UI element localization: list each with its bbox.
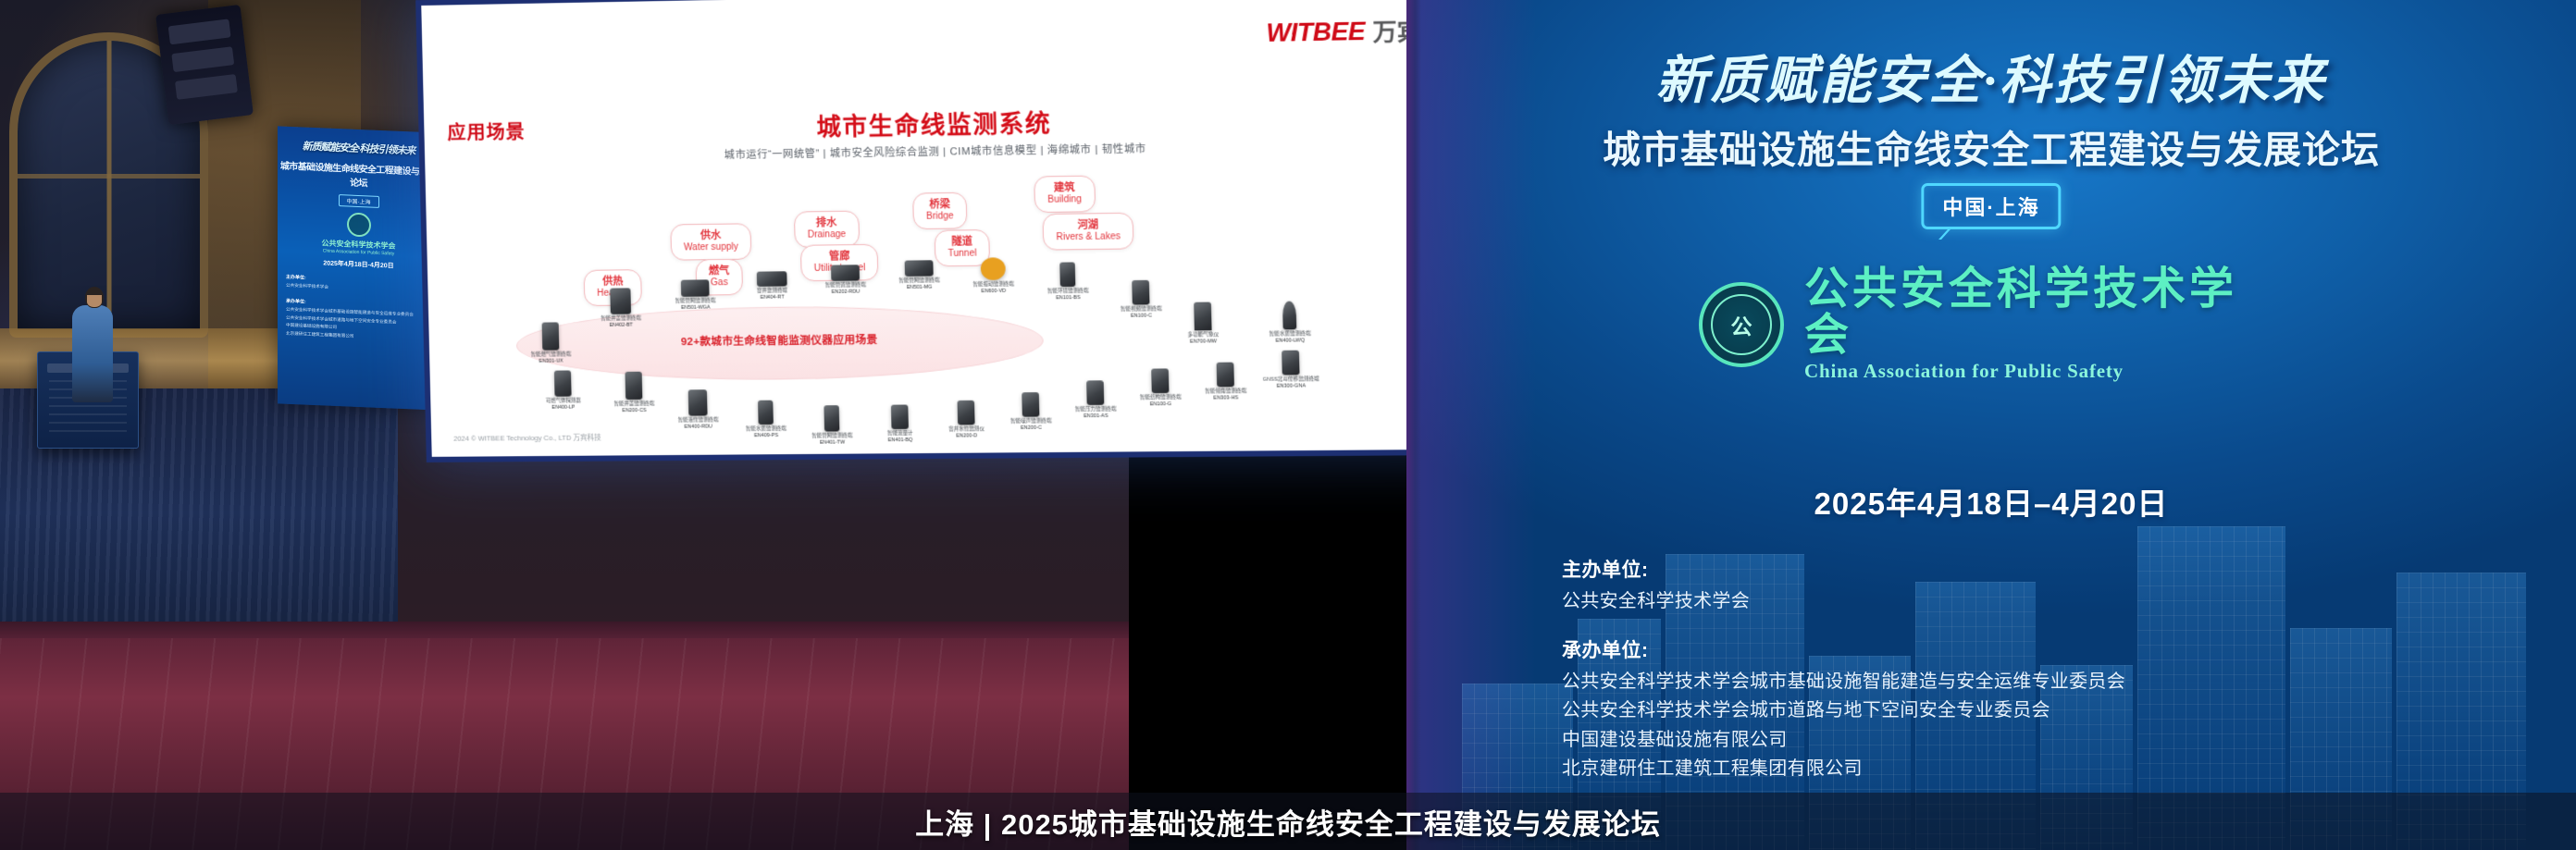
device-code: EN402-BT xyxy=(585,323,658,329)
pill-en: Bridge xyxy=(926,211,954,223)
scenario-pill-rivers-lakes: 河湖 Rivers & Lakes xyxy=(1042,213,1133,251)
pill-en: Rivers & Lakes xyxy=(1056,231,1121,243)
device-item: 智能水质监测终端 EN409-PS xyxy=(729,400,803,438)
association-row: 公 公共安全科学技术学会 China Association for Publi… xyxy=(1699,266,2284,383)
device-item: 多功能气象仪 EN700-MW xyxy=(1165,302,1241,345)
pill-cn: 桥梁 xyxy=(926,199,954,211)
organizer-spacer xyxy=(1562,617,2506,635)
device-item: 智能噪声监测终端 EN200-C xyxy=(993,392,1068,432)
organizer-label: 主办单位: xyxy=(1562,555,2506,583)
device-code: EN301-AS xyxy=(1059,413,1133,420)
device-item: 智能管道监测终端 EN202-RDU xyxy=(809,265,883,296)
stage-left-banner: 新质赋能安全·科技引领未来 城市基础设施生命线安全工程建设与发展论坛 中国·上海… xyxy=(278,126,440,410)
device-item: GNSS北斗位移监测终端 EN300-GNA xyxy=(1253,350,1329,389)
scenario-pill-bridge: 桥梁 Bridge xyxy=(912,192,967,229)
pill-cn: 建筑 xyxy=(1047,182,1082,194)
device-item: 智能流量计 EN401-BQ xyxy=(862,404,937,443)
device-item: 智能水质监测终端 EN400-LWQ xyxy=(1252,301,1329,344)
co-organizer-3: 北京建研住工建筑工程集团有限公司 xyxy=(1562,755,2506,784)
conference-backdrop: 新质赋能安全·科技引领未来 城市基础设施生命线安全工程建设与发展论坛 中国·上海… xyxy=(1406,0,2576,850)
device-code: EN301-UX xyxy=(514,359,588,365)
pill-en: Water supply xyxy=(684,241,738,253)
association-seal-icon: 公 xyxy=(1699,282,1784,367)
device-code: EN600-VD xyxy=(957,289,1031,295)
conference-date: 2025年4月18日–4月20日 xyxy=(1406,479,2576,524)
device-code: EN400-LWQ xyxy=(1253,338,1329,344)
co-organizer-2: 中国建设基础设施有限公司 xyxy=(1562,726,2506,756)
stage-banner-organizer-label: 主办单位: xyxy=(286,275,306,281)
hall-line-array-speaker xyxy=(155,5,254,125)
screenshot-root: 新质赋能安全·科技引领未来 城市基础设施生命线安全工程建设与发展论坛 中国·上海… xyxy=(0,0,2576,850)
device-item: 智能环境监测终端 EN101-BS xyxy=(1030,262,1106,302)
device-item: 智能振动监测终端 EN600-VD xyxy=(956,257,1031,295)
scenario-pill-group: 供水 Water supply 排水 Drainage 桥梁 Bridge 建筑… xyxy=(426,159,1460,276)
device-item: 智能管网监测终端 EN501-WGA xyxy=(659,279,733,311)
pill-cn: 供热 xyxy=(597,276,629,288)
device-item: 智能燃气监测终端 EN301-UX xyxy=(514,322,587,364)
stage-banner-organizers: 主办单位: 公共安全科学技术学会 承办单位: 公共安全科学技术学会城市基础设施智… xyxy=(278,273,440,344)
device-item: 智能管网监测终端 EN401-TW xyxy=(795,405,870,446)
device-item: 智能结构监测终端 EN100-G xyxy=(1122,368,1198,408)
projection-screen: WITBEE 万宾 应用场景 城市生命线监测系统 城市运行“一网统管” | 城市… xyxy=(415,0,1470,462)
device-code: EN200-CS xyxy=(598,408,671,414)
association-name-en: China Association for Public Safety xyxy=(1804,360,2284,383)
association-name-cn: 公共安全科学技术学会 xyxy=(1804,266,2284,360)
device-code: EN101-BS xyxy=(1031,295,1106,302)
pill-en: Building xyxy=(1047,194,1082,206)
bottom-caption-bar: 上海 | 2025城市基础设施生命线安全工程建设与发展论坛 xyxy=(0,793,2576,850)
device-code: EN300-GNA xyxy=(1254,383,1330,389)
seal-glyph: 公 xyxy=(1731,309,1752,340)
scenario-pill-building: 建筑 Building xyxy=(1034,176,1096,213)
co-organizer-0: 公共安全科学技术学会城市基础设施智能建造与安全运维专业委员会 xyxy=(1562,668,2506,697)
organizer-block: 主办单位: 公共安全科学技术学会 承办单位: 公共安全科学技术学会城市基础设施智… xyxy=(1562,555,2506,784)
presentation-slide: WITBEE 万宾 应用场景 城市生命线监测系统 城市运行“一网统管” | 城市… xyxy=(421,0,1464,457)
device-code: EN200-C xyxy=(994,425,1069,432)
location-badge: 中国·上海 xyxy=(1921,183,2061,229)
pill-cn: 供水 xyxy=(684,230,738,242)
device-code: EN401-TW xyxy=(796,440,870,447)
device-code: EN409-PS xyxy=(729,433,802,439)
device-code: EN202-RDU xyxy=(809,289,883,296)
device-item: 窨井水位监测仪 EN200-D xyxy=(929,400,1004,440)
device-item: 智能压力监测终端 EN301-AS xyxy=(1058,380,1133,420)
co-organizer-1: 公共安全科学技术学会城市道路与地下空间安全专业委员会 xyxy=(1562,696,2506,726)
device-code: EN200-D xyxy=(930,433,1004,439)
pill-en: Drainage xyxy=(808,229,847,241)
pill-cn: 管廊 xyxy=(813,251,865,263)
presenter-head xyxy=(85,287,104,308)
device-code: EN700-MW xyxy=(1166,339,1241,345)
device-item: 智能液位监测终端 EN400-RDU xyxy=(661,389,735,430)
device-code: EN404-RT xyxy=(736,295,809,302)
bottom-caption-text: 上海 | 2025城市基础设施生命线安全工程建设与发展论坛 xyxy=(915,801,1661,843)
pill-cn: 排水 xyxy=(807,217,846,229)
device-item: 智能管网监测终端 EN501-MG xyxy=(882,260,957,291)
stage-banner-forum-title: 城市基础设施生命线安全工程建设与发展论坛 xyxy=(278,157,440,191)
backdrop-calligraphy-slogan: 新质赋能安全·科技引领未来 xyxy=(1406,39,2576,114)
stage-banner-co-organizer-2: 中国建设基础设施有限公司 xyxy=(286,323,337,329)
scenario-pill-drainage: 排水 Drainage xyxy=(794,211,860,248)
slide-footer: 2024 © WITBEE Technology Co., LTD 万宾科技 xyxy=(453,432,601,443)
device-code: EN501-MG xyxy=(883,285,957,291)
stage-banner-date: 2025年4月18日-4月20日 xyxy=(278,256,440,272)
device-item: 智能倾角监测终端 EN303-HS xyxy=(1187,362,1263,401)
co-organizer-label: 承办单位: xyxy=(1562,635,2506,663)
device-item: 智能井盖监测终端 EN402-BT xyxy=(584,288,658,328)
device-code: EN400-RDU xyxy=(662,425,735,431)
device-code: EN401-BQ xyxy=(863,437,937,444)
presenter-figure xyxy=(72,305,113,402)
device-item: 窨井监测终端 EN404-RT xyxy=(735,271,809,301)
stage-banner-co-organizer-3: 北京建研住工建筑工程集团有限公司 xyxy=(286,331,354,339)
scenario-pill-water-supply: 供水 Water supply xyxy=(670,223,751,260)
association-names: 公共安全科学技术学会 China Association for Public … xyxy=(1804,266,2284,383)
stage-banner-organizer-0: 公共安全科学技术学会 xyxy=(286,283,328,289)
pill-cn: 隧道 xyxy=(947,236,976,248)
stage-banner-slogan: 新质赋能安全·科技引领未来 xyxy=(278,137,440,158)
stage-banner-co-organizer-label: 承办单位: xyxy=(286,299,306,305)
device-code: EN400-LP xyxy=(527,405,601,412)
witbee-logo-en: WITBEE xyxy=(1266,17,1365,48)
organizer-0: 公共安全科学技术学会 xyxy=(1562,587,2506,617)
device-code: EN303-HS xyxy=(1188,395,1263,401)
device-code: EN100-G xyxy=(1123,401,1198,408)
projection-screen-area: WITBEE 万宾 应用场景 城市生命线监测系统 城市运行“一网统管” | 城市… xyxy=(421,0,1439,462)
device-item: 智能井盖监测终端 EN200-CS xyxy=(597,371,671,413)
device-code: EN501-WGA xyxy=(659,305,732,312)
witbee-logo: WITBEE 万宾 xyxy=(1266,13,1421,50)
device-item: 可燃气体探测器 EN400-LP xyxy=(526,370,600,411)
stage-banner-seal-icon xyxy=(347,212,371,237)
pill-cn: 燃气 xyxy=(709,265,730,277)
stage-banner-location-badge: 中国·上海 xyxy=(339,194,379,208)
pill-cn: 河湖 xyxy=(1056,219,1121,232)
backdrop-forum-title: 城市基础设施生命线安全工程建设与发展论坛 xyxy=(1406,118,2576,174)
